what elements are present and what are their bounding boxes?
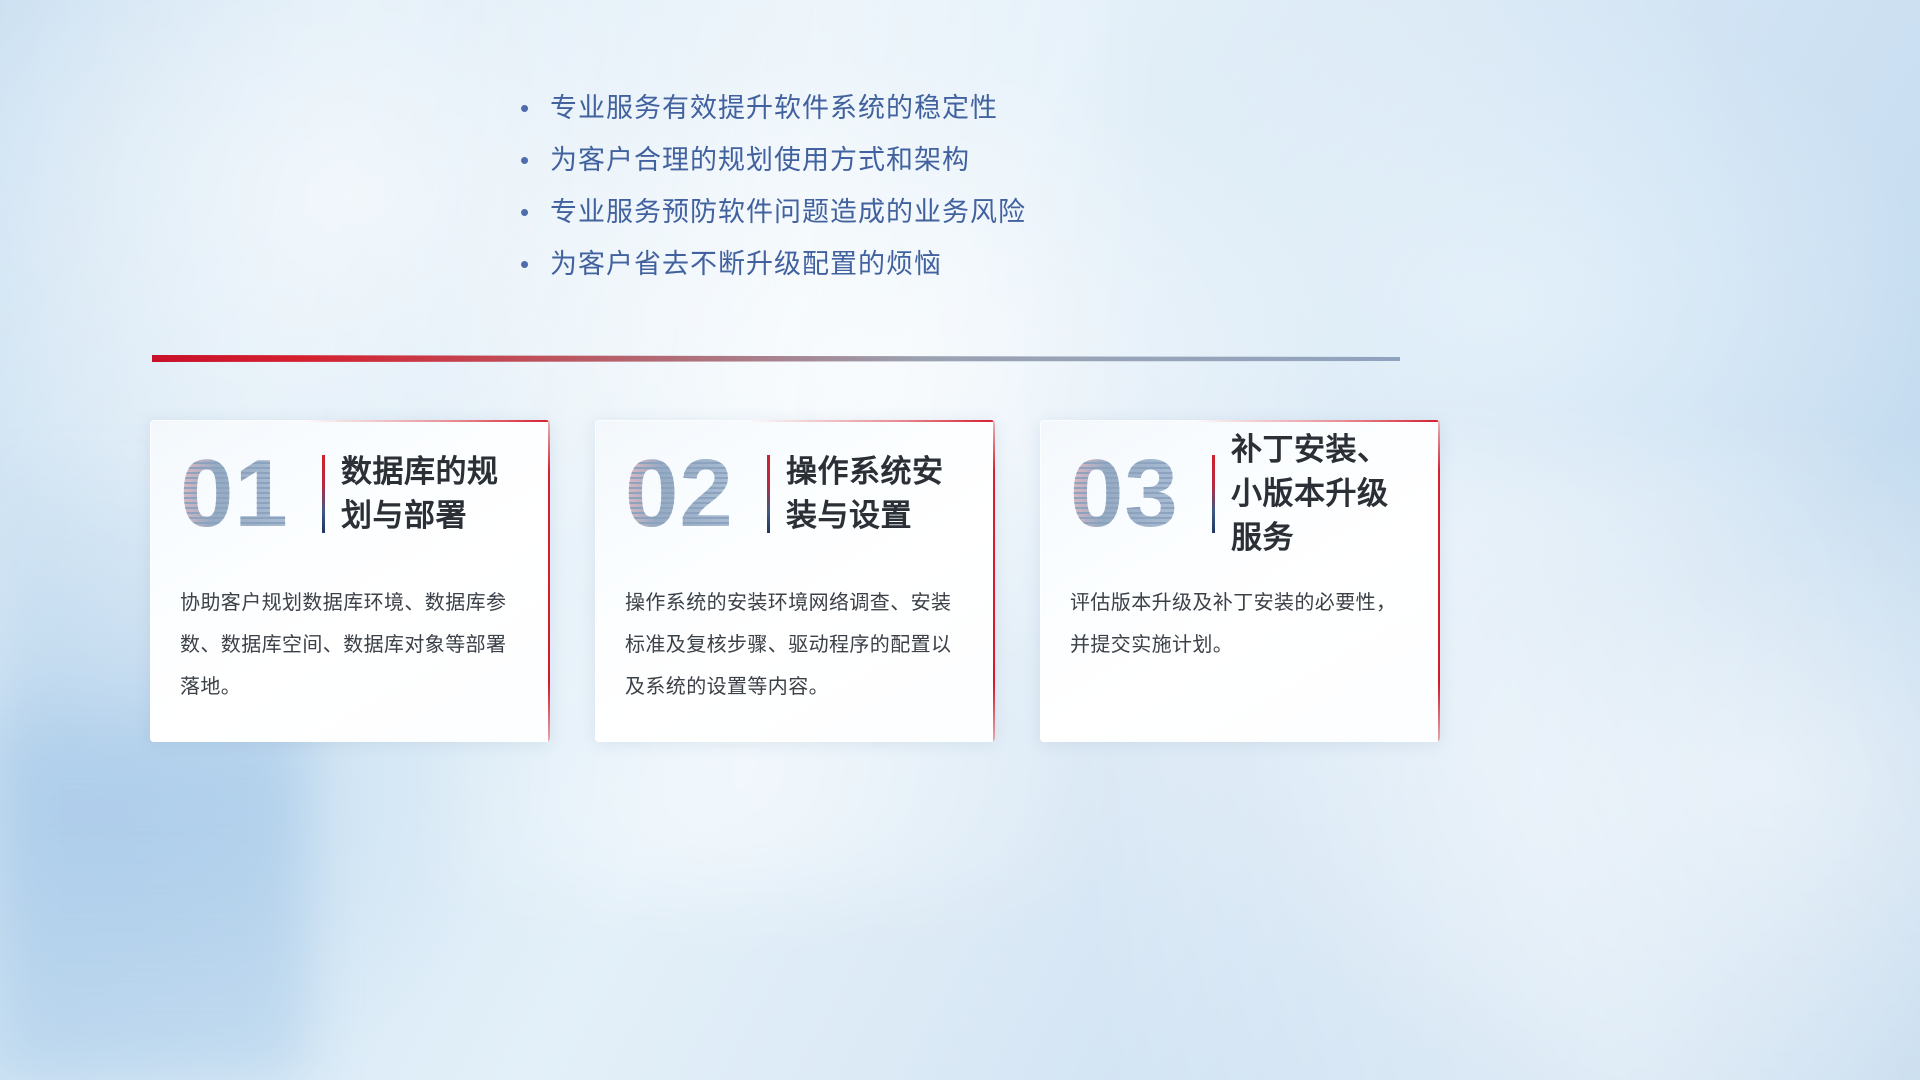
card-number: 01 [180,442,320,546]
bullet-dot-icon: • [520,244,550,284]
card-description: 评估版本升级及补丁安装的必要性，并提交实施计划。 [1040,582,1440,666]
card-title: 补丁安装、小版本升级服务 [1231,428,1418,560]
list-item: • 专业服务预防软件问题造成的业务风险 [520,192,1160,244]
card-number: 03 [1070,442,1210,546]
card-title: 数据库的规划与部署 [341,450,528,538]
card-divider-bar [1212,455,1215,533]
card-divider-bar [767,455,770,533]
bullet-label: 为客户省去不断升级配置的烦恼 [550,244,942,284]
service-card-row: 01 数据库的规划与部署 协助客户规划数据库环境、数据库参数、数据库空间、数据库… [150,420,1600,742]
bullet-label: 为客户合理的规划使用方式和架构 [550,140,970,180]
bullet-dot-icon: • [520,192,550,232]
list-item: • 为客户合理的规划使用方式和架构 [520,140,1160,192]
section-divider [152,352,1400,362]
service-card[interactable]: 03 补丁安装、小版本升级服务 评估版本升级及补丁安装的必要性，并提交实施计划。 [1040,420,1440,742]
service-card[interactable]: 01 数据库的规划与部署 协助客户规划数据库环境、数据库参数、数据库空间、数据库… [150,420,550,742]
list-item: • 为客户省去不断升级配置的烦恼 [520,244,1160,296]
card-divider-bar [322,455,325,533]
card-description: 操作系统的安装环境网络调查、安装标准及复核步骤、驱动程序的配置以及系统的设置等内… [595,582,995,708]
card-number: 02 [625,442,765,546]
bullet-label: 专业服务预防软件问题造成的业务风险 [550,192,1026,232]
card-description: 协助客户规划数据库环境、数据库参数、数据库空间、数据库对象等部署落地。 [150,582,550,708]
benefits-bullet-list: • 专业服务有效提升软件系统的稳定性 • 为客户合理的规划使用方式和架构 • 专… [520,88,1160,296]
card-header: 02 操作系统安装与设置 [595,420,995,568]
card-header: 01 数据库的规划与部署 [150,420,550,568]
divider-shape [152,353,1400,365]
card-title: 操作系统安装与设置 [786,450,973,538]
bullet-label: 专业服务有效提升软件系统的稳定性 [550,88,998,128]
service-card[interactable]: 02 操作系统安装与设置 操作系统的安装环境网络调查、安装标准及复核步骤、驱动程… [595,420,995,742]
bullet-dot-icon: • [520,140,550,180]
bullet-dot-icon: • [520,88,550,128]
card-header: 03 补丁安装、小版本升级服务 [1040,420,1440,568]
list-item: • 专业服务有效提升软件系统的稳定性 [520,88,1160,140]
